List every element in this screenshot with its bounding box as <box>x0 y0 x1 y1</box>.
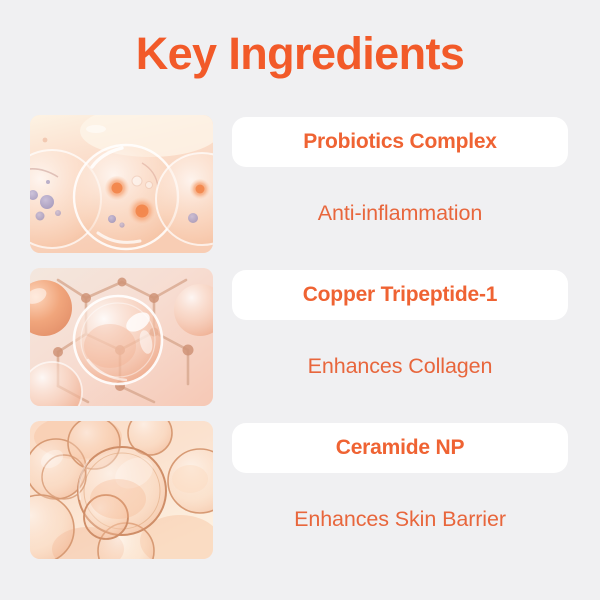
ingredient-benefit: Anti-inflammation <box>232 201 568 226</box>
ingredient-benefit: Enhances Skin Barrier <box>232 507 568 532</box>
ingredient-name: Probiotics Complex <box>303 130 497 154</box>
ingredient-text-column: Copper Tripeptide-1 Enhances Collagen <box>232 268 568 406</box>
bubble-rings-photo <box>30 421 213 559</box>
molecular-lattice-photo <box>30 268 213 406</box>
page-title: Key Ingredients <box>0 26 600 82</box>
ingredient-row: Ceramide NP Enhances Skin Barrier <box>0 421 600 559</box>
ingredient-name: Copper Tripeptide-1 <box>303 283 498 307</box>
ingredient-name-pill: Probiotics Complex <box>232 117 568 167</box>
ingredient-name-pill: Ceramide NP <box>232 423 568 473</box>
ingredient-row: Copper Tripeptide-1 Enhances Collagen <box>0 268 600 406</box>
ingredient-row: Probiotics Complex Anti-inflammation <box>0 115 600 253</box>
ingredient-name: Ceramide NP <box>336 436 465 460</box>
probiotic-cells-photo <box>30 115 213 253</box>
ingredient-name-pill: Copper Tripeptide-1 <box>232 270 568 320</box>
ingredient-benefit: Enhances Collagen <box>232 354 568 379</box>
ingredient-text-column: Probiotics Complex Anti-inflammation <box>232 115 568 253</box>
ingredient-infographic: Key Ingredients <box>0 0 600 600</box>
ingredient-text-column: Ceramide NP Enhances Skin Barrier <box>232 421 568 559</box>
ingredient-list: Probiotics Complex Anti-inflammation <box>0 115 600 574</box>
